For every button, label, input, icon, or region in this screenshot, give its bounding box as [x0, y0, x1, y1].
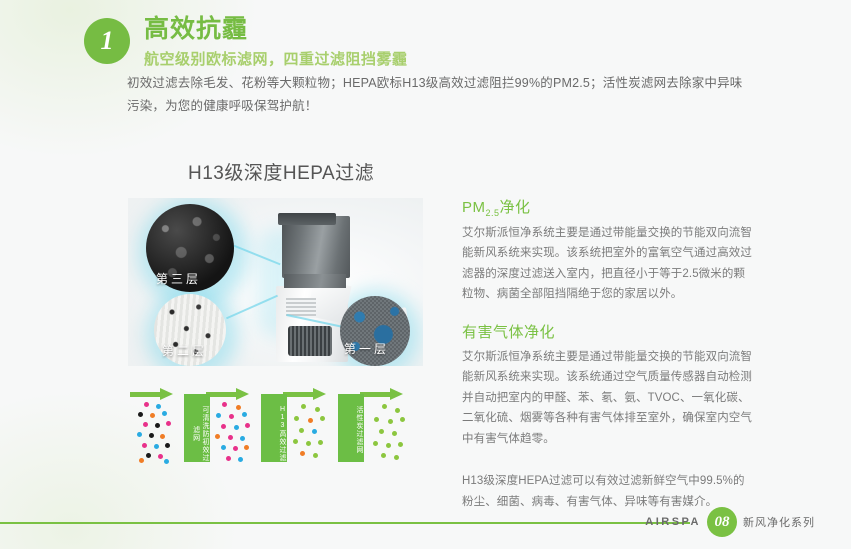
diagram-title: H13级深度HEPA过滤 [188, 158, 374, 185]
harmful-gas-paragraph: 艾尔斯派恒净系统主要是通过带能量交换的节能双向流智能新风系统来实现。该系统通过空… [462, 347, 754, 449]
unit-top-cap [278, 213, 336, 225]
page-title: 高效抗霾 [144, 14, 408, 45]
intro-paragraph: 初效过滤去除毛发、花粉等大颗粒物；HEPA欧标H13级高效过滤阻拦99%的PM2… [127, 72, 752, 118]
fresh-air-unit-illustration [276, 216, 350, 362]
particles-stage-2 [212, 400, 254, 466]
pm25-paragraph: 艾尔斯派恒净系统主要是通过带能量交换的节能双向流智能新风系统来实现。该系统把室外… [462, 223, 754, 305]
pm25-heading-tail: 净化 [500, 199, 531, 216]
filtration-flow-diagram: 可清洗防初效过滤网 H13高效过滤 活性炭过滤网 [128, 386, 428, 470]
footer-page-number: 08 [707, 507, 737, 537]
pm25-heading: PM2.5净化 [462, 196, 754, 218]
particles-stage-4 [368, 400, 410, 466]
filter-bar-3-label: 活性炭过滤网 [338, 406, 364, 454]
footer-series-label: 新风净化系列 [743, 514, 815, 530]
column-spacer [462, 305, 754, 321]
pm25-heading-main: PM [462, 199, 486, 216]
particles-stage-1 [134, 400, 176, 466]
flow-arrow-1 [130, 388, 174, 400]
flow-arrow-2 [206, 388, 250, 400]
layer3-label: 第三层 [156, 270, 201, 287]
pm25-heading-sub: 2.5 [486, 208, 500, 218]
unit-neck [284, 274, 346, 288]
section-number-badge: 1 [84, 18, 130, 64]
layer2-label: 第二层 [162, 342, 207, 359]
footer-brand: AIRSPA [645, 516, 701, 528]
right-content-column: PM2.5净化 艾尔斯派恒净系统主要是通过带能量交换的节能双向流智能新风系统来实… [462, 196, 754, 512]
header-text-group: 高效抗霾 航空级别欧标滤网，四重过滤阻挡雾霾 [144, 14, 408, 69]
particles-stage-3 [289, 400, 331, 466]
filter-bar-1-label: 可清洗防初效过滤网 [184, 406, 210, 462]
footer: AIRSPA 08 新风净化系列 [645, 507, 815, 537]
harmful-gas-heading: 有害气体净化 [462, 321, 754, 342]
filter-bar-2: H13高效过滤 [261, 394, 287, 462]
filter-bar-1: 可清洗防初效过滤网 [184, 394, 210, 462]
flow-arrow-3 [283, 388, 327, 400]
flow-arrow-4 [360, 388, 404, 400]
page-root: 1 高效抗霾 航空级别欧标滤网，四重过滤阻挡雾霾 初效过滤去除毛发、花粉等大颗粒… [0, 0, 851, 549]
unit-fan [288, 326, 332, 356]
filter-bar-2-label: H13高效过滤 [261, 406, 287, 462]
layer1-label: 第一层 [344, 340, 389, 357]
filter-photo: 第三层 第二层 第一层 [128, 198, 423, 366]
footer-divider [0, 522, 690, 524]
filter-bar-3: 活性炭过滤网 [338, 394, 364, 462]
unit-top-module [282, 216, 350, 278]
page-subtitle: 航空级别欧标滤网，四重过滤阻挡雾霾 [144, 48, 408, 69]
